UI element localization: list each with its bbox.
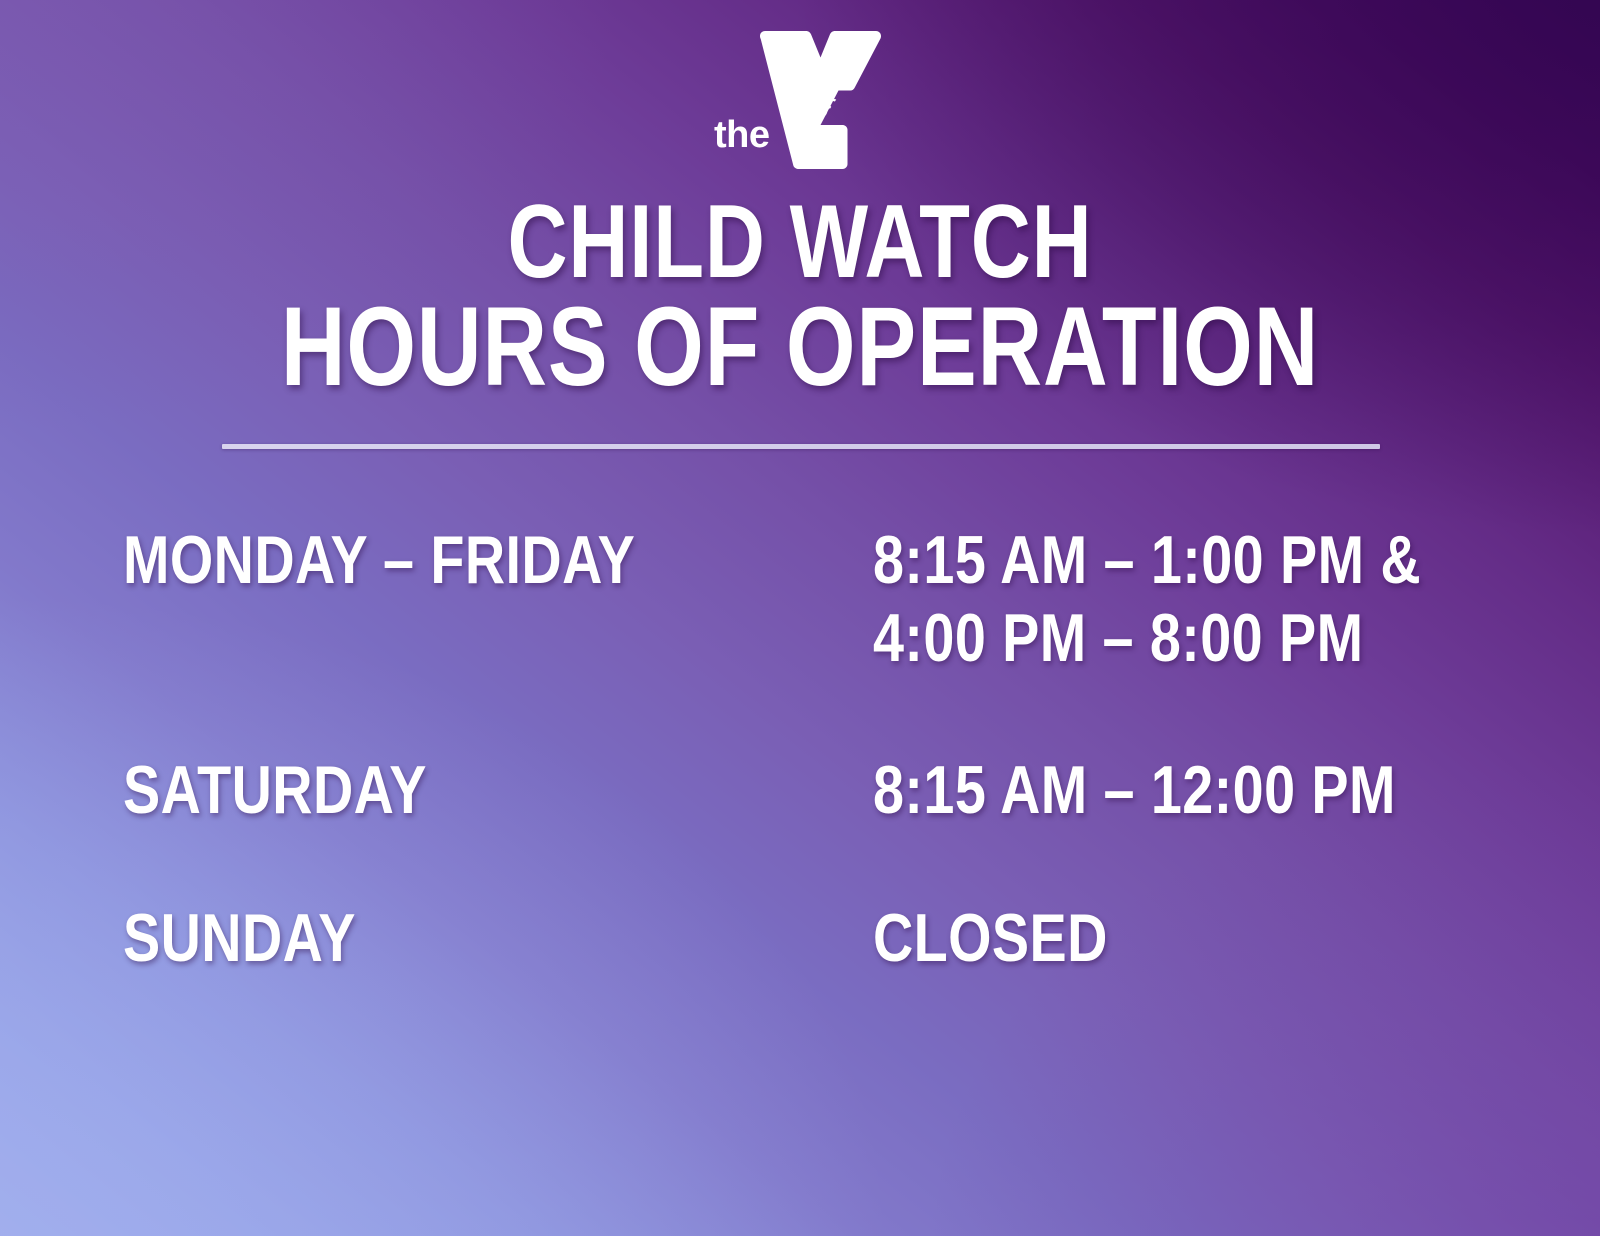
schedule-row: SUNDAY CLOSED (0, 900, 1600, 1020)
schedule-hours-value: 8:15 AM – 12:00 PM (873, 752, 1496, 830)
title-line-1: CHILD WATCH (160, 192, 1440, 293)
registered-trademark-icon: ® (865, 38, 875, 51)
schedule-hours-value: 8:15 AM – 1:00 PM & 4:00 PM – 8:00 PM (873, 522, 1496, 677)
schedule-row: SATURDAY 8:15 AM – 12:00 PM (0, 752, 1600, 900)
page-title: CHILD WATCH HOURS OF OPERATION (0, 192, 1600, 402)
schedule-day-label: SUNDAY (123, 900, 730, 978)
schedule-day-label: SATURDAY (123, 752, 730, 830)
hours-schedule: MONDAY – FRIDAY 8:15 AM – 1:00 PM & 4:00… (0, 522, 1600, 1020)
schedule-row: MONDAY – FRIDAY 8:15 AM – 1:00 PM & 4:00… (0, 522, 1600, 752)
schedule-day-label: MONDAY – FRIDAY (123, 522, 730, 600)
child-watch-hours-poster: the ® YMCA CHILD WATCH HOURS OF OPERATIO… (0, 0, 1600, 1236)
ymca-logo: the ® YMCA (700, 30, 890, 175)
title-line-2: HOURS OF OPERATION (160, 293, 1440, 402)
schedule-hours-value: CLOSED (873, 900, 1496, 978)
title-divider (222, 444, 1380, 449)
